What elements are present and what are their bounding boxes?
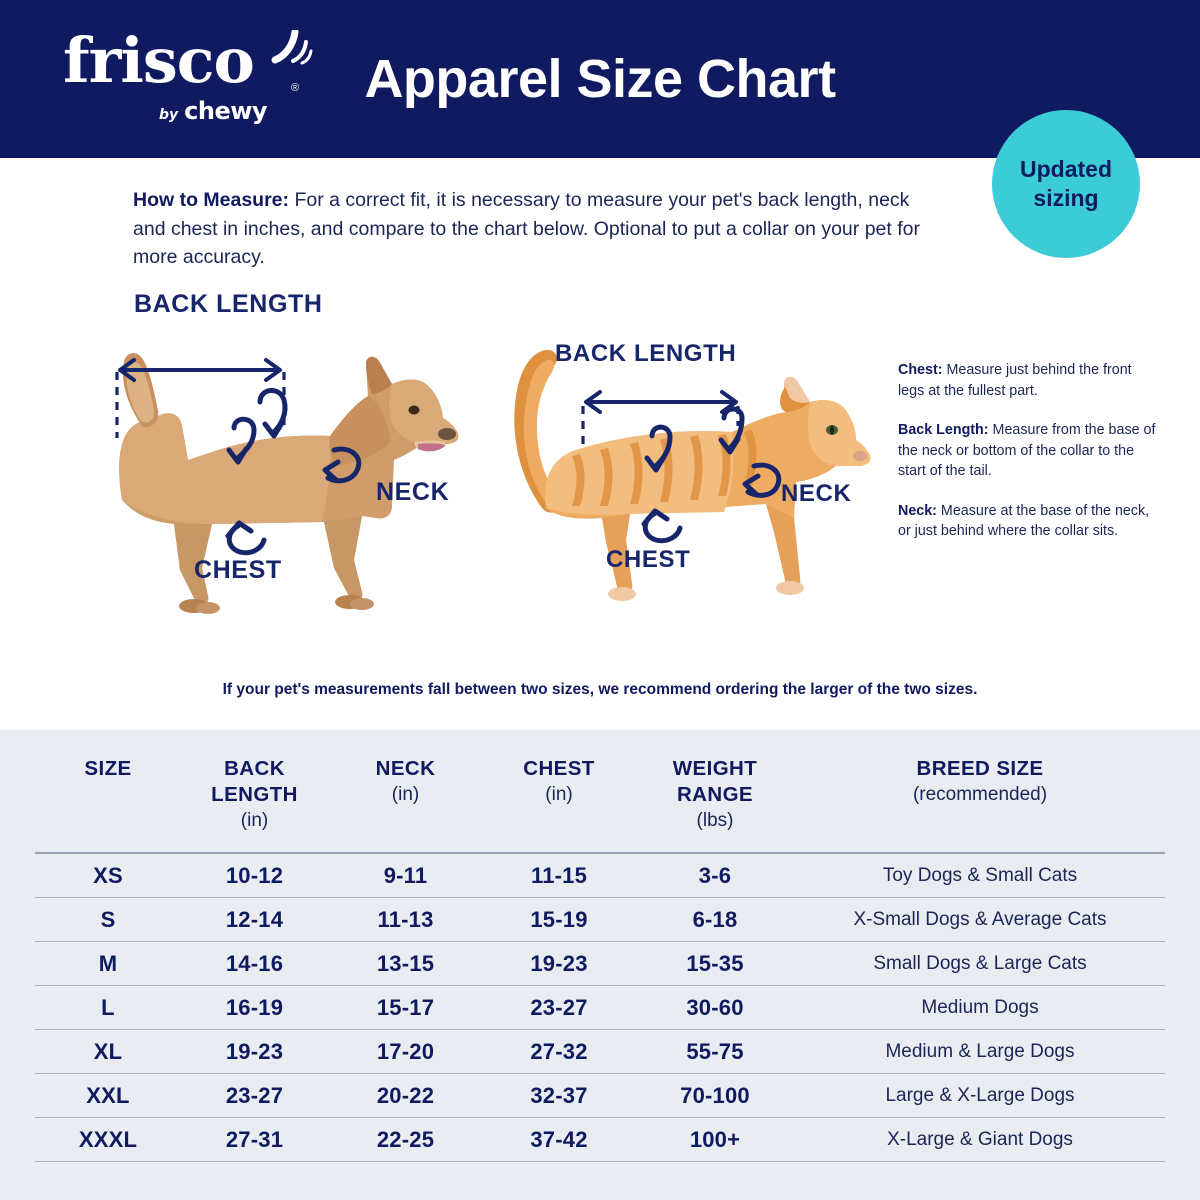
table-row: M 14-16 13-15 19-23 15-35 Small Dogs & L… [35,942,1165,986]
badge-line-2: sizing [1033,184,1098,213]
table-row: XXL 23-27 20-22 32-37 70-100 Large & X-L… [35,1074,1165,1118]
cell-neck: 20-22 [328,1074,483,1118]
definition-chest: Chest: Measure just behind the front leg… [898,360,1160,401]
definition-back-length-term: Back Length: [898,422,989,438]
table-body: XS 10-12 9-11 11-15 3-6 Toy Dogs & Small… [35,853,1165,1162]
cell-back-length: 12-14 [181,898,328,942]
cell-size: XL [35,1030,181,1074]
updated-sizing-badge: Updated sizing [992,110,1140,258]
logo-chewy-text: chewy [184,100,267,122]
definition-back-length: Back Length: Measure from the base of th… [898,420,1160,482]
column-header-size: SIZE [35,730,181,853]
dog-chest-label: CHEST [194,556,282,585]
between-sizes-note: If your pet's measurements fall between … [0,681,1200,699]
cell-size: XXXL [35,1118,181,1162]
cell-back-length: 23-27 [181,1074,328,1118]
cell-chest: 15-19 [483,898,635,942]
cell-chest: 19-23 [483,942,635,986]
cell-chest: 27-32 [483,1030,635,1074]
cell-back-length: 10-12 [181,853,328,898]
cell-neck: 9-11 [328,853,483,898]
registered-trademark-icon: ® [291,82,299,94]
cell-weight: 70-100 [635,1074,795,1118]
column-header-chest: CHEST (in) [483,730,635,853]
cell-breed: Medium & Large Dogs [795,1030,1165,1074]
apparel-size-chart-page: frisco ® by chewy Apparel Size Chart Upd… [0,0,1200,1200]
cell-breed: X-Small Dogs & Average Cats [795,898,1165,942]
table-row: L 16-19 15-17 23-27 30-60 Medium Dogs [35,986,1165,1030]
cell-weight: 100+ [635,1118,795,1162]
cell-weight: 55-75 [635,1030,795,1074]
size-table-section: SIZE BACK LENGTH (in) NECK (in) CHEST (i… [0,730,1200,1200]
table-header: SIZE BACK LENGTH (in) NECK (in) CHEST (i… [35,730,1165,853]
measurement-definitions: Chest: Measure just behind the front leg… [898,360,1160,561]
table-header-row: SIZE BACK LENGTH (in) NECK (in) CHEST (i… [35,730,1165,853]
cell-weight: 6-18 [635,898,795,942]
cell-neck: 15-17 [328,986,483,1030]
logo-by-text: by [159,108,178,122]
cell-size: XXL [35,1074,181,1118]
definition-neck-term: Neck: [898,503,937,519]
dog-back-length-label: BACK LENGTH [134,290,323,319]
column-header-neck: NECK (in) [328,730,483,853]
column-header-breed-size: BREED SIZE (recommended) [795,730,1165,853]
cell-breed: Large & X-Large Dogs [795,1074,1165,1118]
cell-breed: X-Large & Giant Dogs [795,1118,1165,1162]
definition-chest-term: Chest: [898,362,942,378]
cell-neck: 11-13 [328,898,483,942]
logo-wordmark: frisco [63,30,254,92]
cell-chest: 37-42 [483,1118,635,1162]
cell-chest: 23-27 [483,986,635,1030]
table-row: XXXL 27-31 22-25 37-42 100+ X-Large & Gi… [35,1118,1165,1162]
cell-breed: Toy Dogs & Small Cats [795,853,1165,898]
cell-back-length: 27-31 [181,1118,328,1162]
cell-breed: Small Dogs & Large Cats [795,942,1165,986]
cell-chest: 11-15 [483,853,635,898]
cat-neck-label: NECK [781,480,851,508]
cell-neck: 13-15 [328,942,483,986]
dog-neck-label: NECK [376,478,449,507]
cell-size: L [35,986,181,1030]
column-header-back-length: BACK LENGTH (in) [181,730,328,853]
cell-chest: 32-37 [483,1074,635,1118]
cell-size: S [35,898,181,942]
logo-sublabel: by chewy [159,100,267,122]
column-header-weight-range: WEIGHT RANGE (lbs) [635,730,795,853]
table-row: XS 10-12 9-11 11-15 3-6 Toy Dogs & Small… [35,853,1165,898]
cell-back-length: 16-19 [181,986,328,1030]
cell-back-length: 19-23 [181,1030,328,1074]
cell-weight: 15-35 [635,942,795,986]
definition-neck: Neck: Measure at the base of the neck, o… [898,501,1160,542]
logo-swish-icon [271,30,315,70]
table-row: S 12-14 11-13 15-19 6-18 X-Small Dogs & … [35,898,1165,942]
frisco-logo: frisco ® by chewy [63,26,313,136]
cat-back-length-label: BACK LENGTH [555,340,736,368]
cell-breed: Medium Dogs [795,986,1165,1030]
how-to-measure-label: How to Measure: [133,189,289,211]
cell-weight: 30-60 [635,986,795,1030]
cell-size: XS [35,853,181,898]
cell-back-length: 14-16 [181,942,328,986]
cell-size: M [35,942,181,986]
cat-chest-label: CHEST [606,546,690,574]
size-chart-table: SIZE BACK LENGTH (in) NECK (in) CHEST (i… [35,730,1165,1162]
cell-neck: 17-20 [328,1030,483,1074]
cell-neck: 22-25 [328,1118,483,1162]
how-to-measure-paragraph: How to Measure: For a correct fit, it is… [133,186,943,272]
table-row: XL 19-23 17-20 27-32 55-75 Medium & Larg… [35,1030,1165,1074]
cell-weight: 3-6 [635,853,795,898]
badge-line-1: Updated [1020,155,1112,184]
